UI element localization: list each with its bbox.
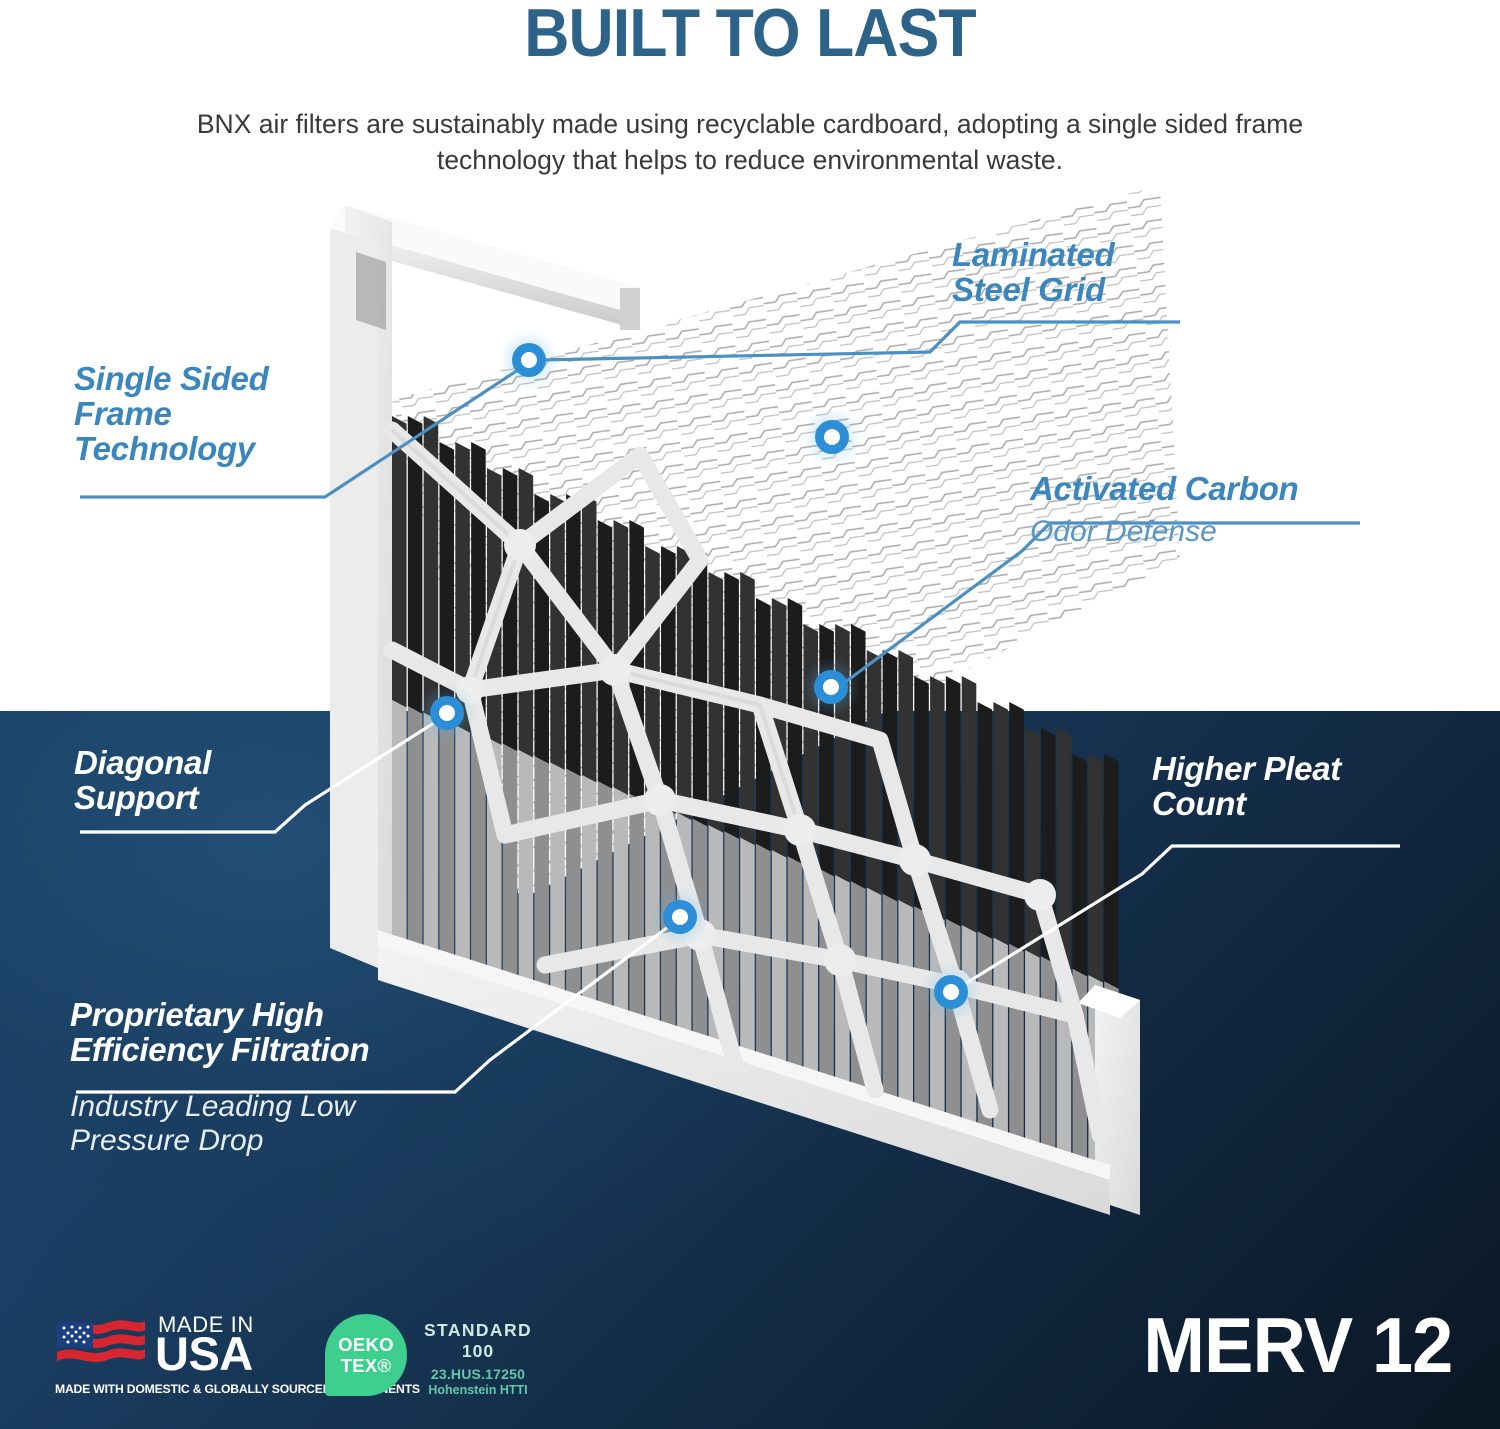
carbon-pleat: [1009, 702, 1024, 951]
merv-rating: MERV 12: [1143, 1306, 1452, 1384]
dot-activated-carbon[interactable]: [801, 657, 861, 717]
callout-diagonal-support: Diagonal Support: [74, 746, 324, 816]
dot-proprietary-filtration[interactable]: [650, 887, 710, 947]
high-efficiency-pleat: [1025, 950, 1040, 1157]
high-efficiency-pleat: [614, 788, 629, 1035]
callout-single-sided-frame-technology: Single Sided Frame Technology: [74, 362, 374, 467]
high-efficiency-pleat: [503, 744, 518, 1001]
certifying-institute: Hohenstein HTTI: [413, 1383, 543, 1397]
dot-laminated-steel-grid-2[interactable]: [802, 407, 862, 467]
high-efficiency-pleat: [788, 856, 803, 1086]
high-efficiency-pleat: [772, 850, 787, 1082]
carbon-pleat: [1088, 754, 1103, 983]
standard-number: 100: [413, 1341, 543, 1362]
callout-subtitle: Industry Leading Low: [70, 1090, 470, 1124]
carbon-pleat: [993, 702, 1008, 945]
callout-line: Frame: [74, 397, 374, 432]
callout-line: Diagonal: [74, 746, 324, 781]
high-efficiency-pleat: [455, 725, 470, 987]
carbon-pleat: [1073, 754, 1088, 976]
callout-line: Efficiency Filtration: [70, 1033, 470, 1068]
usa-label: USA: [155, 1330, 253, 1377]
high-efficiency-pleat: [408, 706, 423, 972]
callout-higher-pleat-count: Higher Pleat Count: [1152, 752, 1412, 822]
high-efficiency-pleat: [756, 844, 771, 1077]
high-efficiency-pleat: [439, 719, 454, 982]
callout-line: Proprietary High: [70, 998, 470, 1033]
high-efficiency-pleat: [629, 794, 644, 1039]
oeko-tex-badge: OEKO TEX® STANDARD 100 23.HUS.17250 Hohe…: [325, 1310, 545, 1410]
callout-line: Activated Carbon: [1030, 472, 1370, 507]
product-illustration: [0, 0, 1500, 1429]
carbon-pleat: [930, 676, 945, 920]
high-efficiency-pleat: [993, 938, 1008, 1148]
high-efficiency-pleat: [566, 769, 581, 1020]
callout-subtitle: Pressure Drop: [70, 1124, 470, 1158]
infographic-root: BUILT TO LAST BNX air filters are sustai…: [0, 0, 1500, 1429]
high-efficiency-pleat: [883, 894, 898, 1115]
callout-laminated-steel-grid: Laminated Steel Grid: [952, 238, 1192, 308]
made-in-usa-badge: MADE IN USA MADE WITH DOMESTIC & GLOBALL…: [55, 1312, 330, 1407]
high-efficiency-pleat: [740, 838, 755, 1073]
carbon-pleat: [962, 676, 977, 933]
high-efficiency-pleat: [519, 750, 534, 1006]
high-efficiency-pleat: [550, 763, 565, 1016]
callout-line: Higher Pleat: [1152, 752, 1412, 787]
carbon-pleat: [550, 494, 565, 770]
callout-activated-carbon: Activated Carbon Odor Defense: [1030, 472, 1370, 549]
tex-label: TEX®: [325, 1355, 407, 1377]
standard-label: STANDARD: [413, 1320, 543, 1341]
callout-line: Technology: [74, 432, 374, 467]
carbon-pleat: [946, 676, 961, 926]
callout-subtitle: Odor Defense: [1030, 515, 1370, 549]
dot-diagonal-support[interactable]: [417, 683, 477, 743]
callout-line: Count: [1152, 787, 1412, 822]
callout-line: Steel Grid: [952, 273, 1192, 308]
certificate-code: 23.HUS.17250: [413, 1366, 543, 1382]
carbon-pleat: [1104, 754, 1119, 989]
high-efficiency-pleat: [424, 713, 439, 978]
carbon-pleat: [519, 468, 534, 758]
usa-flag-icon: [55, 1314, 147, 1370]
high-efficiency-pleat: [914, 906, 929, 1124]
carbon-pleat: [978, 702, 993, 939]
high-efficiency-pleat: [1009, 944, 1024, 1153]
callout-line: Support: [74, 781, 324, 816]
high-efficiency-pleat: [1041, 956, 1056, 1162]
callout-line: Laminated: [952, 238, 1192, 273]
dot-laminated-steel-grid-1[interactable]: [499, 330, 559, 390]
oeko-label: OEKO: [325, 1334, 407, 1356]
callout-line: Single Sided: [74, 362, 374, 397]
dot-higher-pleat-count[interactable]: [921, 962, 981, 1022]
high-efficiency-pleat: [898, 900, 913, 1119]
carbon-pleat: [1025, 728, 1040, 958]
callout-proprietary-high-efficiency-filtration: Proprietary High Efficiency Filtration I…: [70, 998, 470, 1157]
